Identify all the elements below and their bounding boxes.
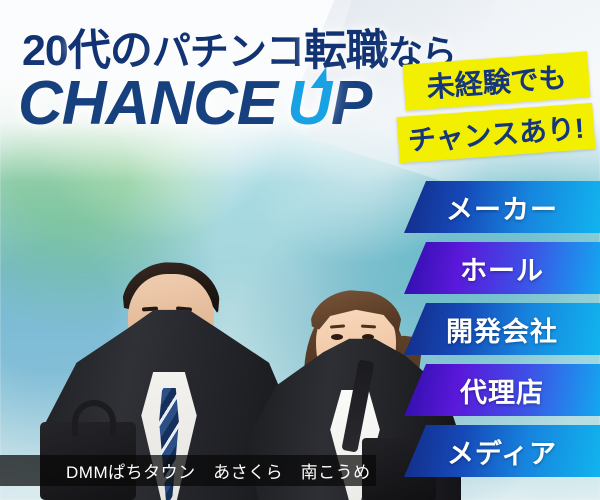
- credit-bar: DMMぱちタウン あさくら 南こうめ: [0, 455, 376, 486]
- logo-letter-u-arrow: U: [287, 69, 331, 138]
- category-button-agency[interactable]: 代理店: [404, 364, 600, 416]
- female-eye-left: [331, 334, 343, 340]
- logo-letter-p: P: [331, 69, 371, 138]
- category-button-development-company[interactable]: 開発会社: [404, 303, 600, 355]
- category-button-hall[interactable]: ホール: [404, 242, 600, 294]
- category-button-media[interactable]: メディア: [404, 425, 600, 477]
- category-button-label: メディア: [447, 432, 557, 471]
- advertisement-banner[interactable]: 20代のパチンコ転職なら CHANCEUP 未経験でも チャンスあり! メーカー…: [0, 0, 600, 500]
- category-button-label: 代理店: [460, 371, 544, 410]
- callout-tag-label: 未経験でも: [425, 56, 568, 106]
- logo-word-chance: CHANCE: [18, 69, 277, 138]
- brand-logotype: CHANCEUP: [18, 68, 371, 139]
- category-button-label: ホール: [460, 249, 544, 288]
- male-briefcase-handle: [72, 400, 116, 436]
- credit-text: DMMぱちタウン あさくら 南こうめ: [0, 458, 371, 483]
- category-button-label: 開発会社: [446, 310, 558, 349]
- category-button-maker[interactable]: メーカー: [404, 181, 600, 233]
- category-button-label: メーカー: [446, 188, 558, 227]
